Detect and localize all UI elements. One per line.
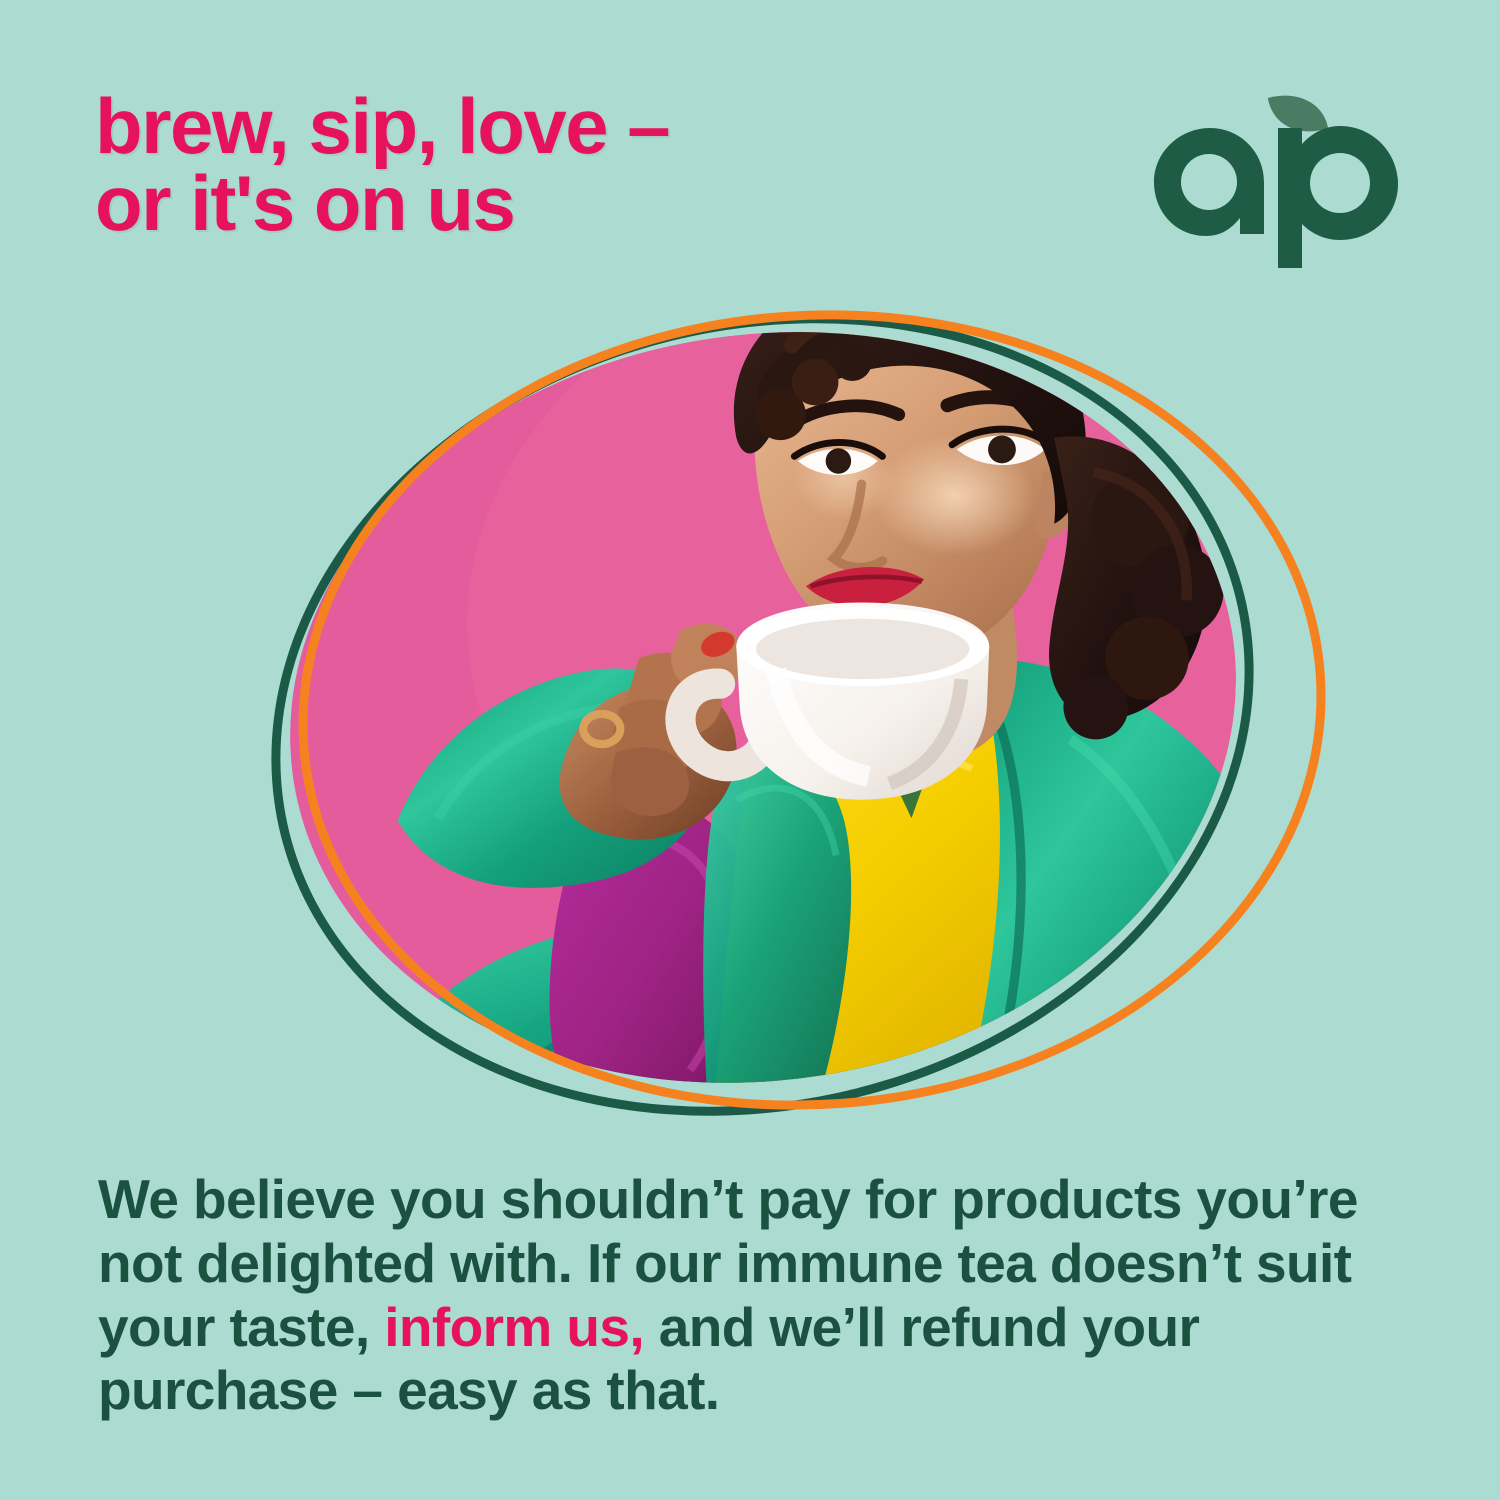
logo-letter-a	[1154, 128, 1264, 236]
logo-letter-p	[1278, 126, 1398, 268]
leaf-icon	[1268, 93, 1328, 135]
brand-logo[interactable]	[1148, 88, 1408, 268]
inform-us-link[interactable]: inform us,	[384, 1296, 644, 1358]
page-title: brew, sip, love – or it's on us	[95, 88, 855, 242]
hero-image-group	[180, 285, 1340, 1115]
hero-photo	[236, 275, 1291, 1139]
ad-canvas: brew, sip, love – or it's on us	[0, 0, 1500, 1500]
photo-oval-mask	[236, 265, 1291, 1149]
body-copy: We believe you shouldn’t pay for product…	[98, 1168, 1358, 1423]
